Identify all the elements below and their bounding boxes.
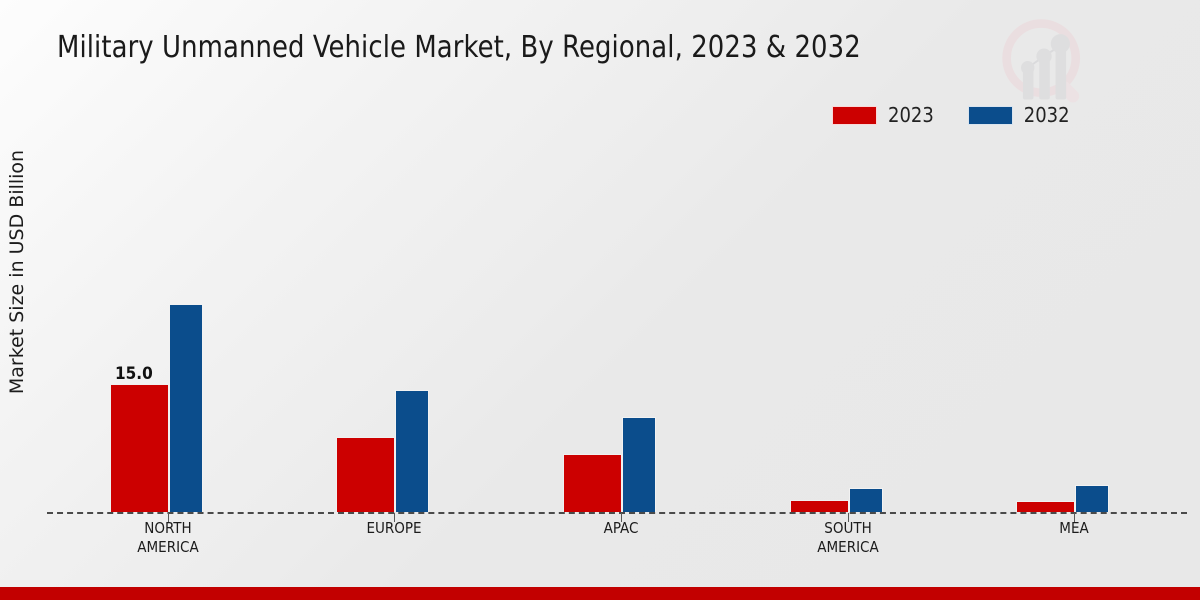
bar-2032-europe[interactable] xyxy=(395,390,429,512)
bar-2023-europe[interactable] xyxy=(336,437,395,512)
bar-2023-south-america[interactable] xyxy=(790,500,849,512)
category-label-apac: APAC xyxy=(561,519,681,538)
bar-2032-mea[interactable] xyxy=(1075,485,1109,512)
footer-accent-strip xyxy=(0,587,1200,600)
category-label-south-america: SOUTH AMERICA xyxy=(788,519,908,557)
x-axis-baseline xyxy=(47,512,1187,514)
bar-2023-apac[interactable] xyxy=(563,454,622,512)
bar-2032-north-america[interactable] xyxy=(169,304,203,512)
category-label-europe: EUROPE xyxy=(334,519,454,538)
bar-2023-north-america[interactable] xyxy=(110,384,169,512)
plot-area: 15.0 NORTH AMERICA EUROPE APAC SOUTH AME… xyxy=(0,0,1200,600)
bar-value-label-2023-north-america: 15.0 xyxy=(115,364,153,384)
bar-2023-mea[interactable] xyxy=(1016,501,1075,512)
category-label-north-america: NORTH AMERICA xyxy=(108,519,228,557)
chart-container: Military Unmanned Vehicle Market, By Reg… xyxy=(0,0,1200,600)
bar-2032-south-america[interactable] xyxy=(849,488,883,512)
category-label-mea: MEA xyxy=(1014,519,1134,538)
bar-2032-apac[interactable] xyxy=(622,417,656,512)
